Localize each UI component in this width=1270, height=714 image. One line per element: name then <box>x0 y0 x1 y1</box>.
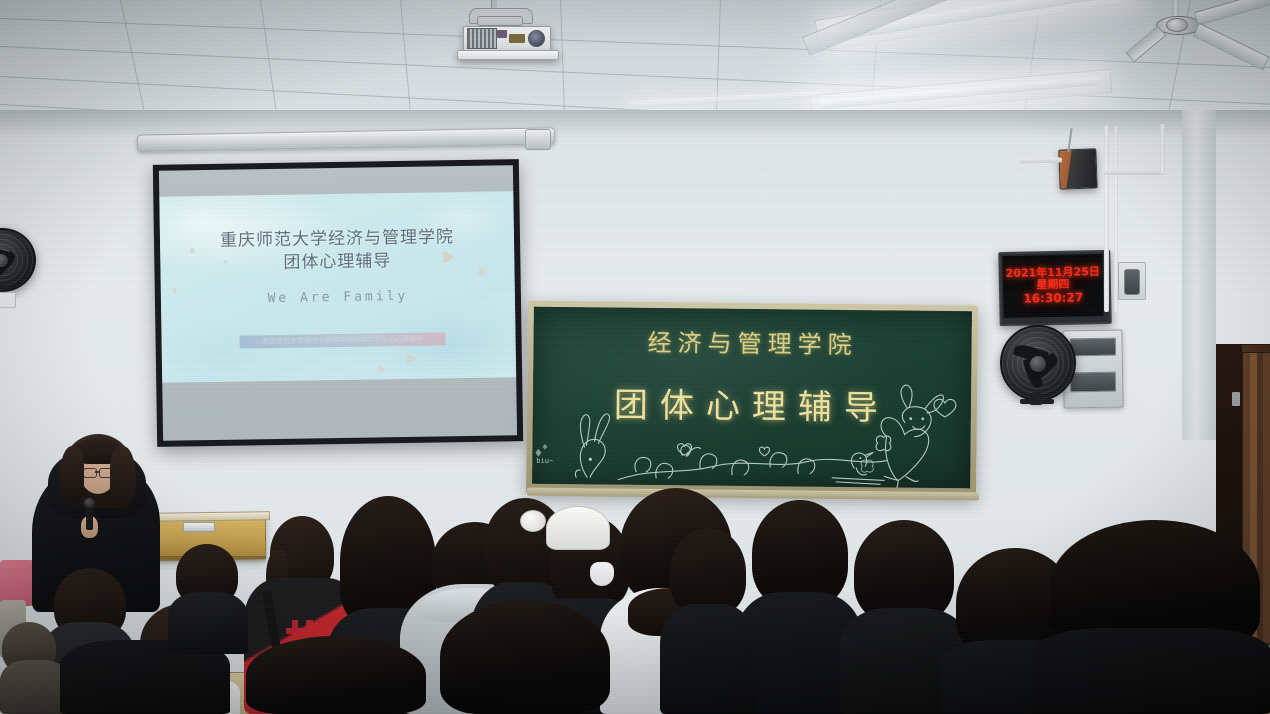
student <box>236 636 436 714</box>
fluorescent-tube <box>630 91 820 108</box>
presenter-glasses <box>99 468 113 478</box>
screen-roller-cap <box>525 129 551 150</box>
door-latch-icon[interactable] <box>1232 392 1240 406</box>
classroom-photo: 重庆师范大学经济与管理学院 团体心理辅导 We Are Family 重庆师范大… <box>0 0 1270 714</box>
led-clock-screen: 2021年11月25日 星期四 16:30:27 <box>1002 254 1103 318</box>
cabinet-window-bottom <box>1070 372 1116 393</box>
ceiling-projector <box>455 0 575 68</box>
student <box>660 528 756 714</box>
wall-conduit-vertical <box>1160 124 1165 174</box>
projected-slide: 重庆师范大学经济与管理学院 团体心理辅导 We Are Family 重庆师范大… <box>159 191 516 383</box>
microphone-head <box>84 498 95 508</box>
slide-banner-text: 重庆师范大学经济与管理学院团体文学生心心理辅导 <box>240 333 446 346</box>
wall-fan-left <box>0 228 38 308</box>
student-foreground-right <box>1050 520 1270 714</box>
lectern-handle[interactable] <box>183 522 215 532</box>
slide-title-line2: 团体心理辅导 <box>160 244 514 275</box>
wall-speaker <box>1058 148 1097 189</box>
presenter-glasses-bridge <box>95 471 100 473</box>
ceiling-fan <box>1100 0 1270 76</box>
projection-screen-surface: 重庆师范大学经济与管理学院 团体心理辅导 We Are Family 重庆师范大… <box>159 165 517 441</box>
blackboard-surface: 经济与管理学院 团体心理辅导 biu~ <box>532 307 972 489</box>
wall-conduit-vertical <box>1104 126 1109 312</box>
wall-conduit-bracket <box>1104 170 1164 175</box>
wall-fan-right <box>1000 325 1076 401</box>
ceiling <box>0 0 1270 122</box>
wall-sensor <box>1124 269 1140 295</box>
presenter-hair-side <box>110 446 136 510</box>
led-clock-time: 16:30:27 <box>1023 291 1083 306</box>
blackboard-doodles <box>532 307 972 489</box>
presenter-glasses <box>83 468 97 478</box>
slide-english-subtitle: We Are Family <box>161 287 515 308</box>
student <box>168 544 248 654</box>
wall-pillar <box>1182 110 1216 440</box>
student <box>420 600 630 714</box>
cabinet-window-top <box>1070 338 1116 357</box>
presenter-hair-side <box>60 446 84 504</box>
